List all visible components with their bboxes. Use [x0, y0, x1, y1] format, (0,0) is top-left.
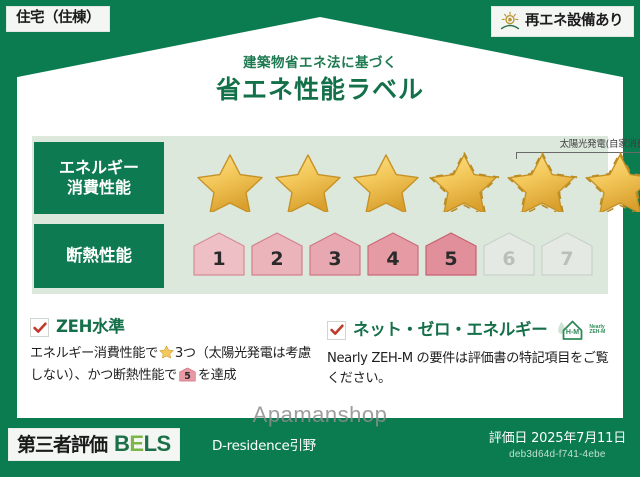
- energy-label-root: 住宅（住棟） 再エネ設備あり 建築物省エネ法に基づく 省エネ性能ラベル: [0, 0, 640, 477]
- zeh-standard-body: エネルギー消費性能で 3つ（太陽光発電は考慮しない）、かつ断熱性能で 5を達成: [30, 344, 313, 387]
- footer: 第三者評価 BELS D-residence引野 評価日 2025年7月11日 …: [0, 418, 640, 477]
- building-type-tag: 住宅（住棟）: [6, 6, 110, 32]
- evaluation-info: 評価日 2025年7月11日 deb3d64d-f741-4ebe: [489, 432, 626, 460]
- insulation-label-text: 断熱性能: [66, 246, 132, 267]
- star-filled: [272, 152, 344, 212]
- insulation-level-cell: 7: [540, 230, 594, 278]
- zeh-body-part4: を達成: [198, 368, 236, 383]
- bels-logo-e: E: [129, 431, 143, 456]
- zeh-standard-title: ZEH水準: [56, 319, 125, 336]
- energy-label-line2: 消費性能: [67, 178, 131, 198]
- insulation-level-number: 6: [502, 250, 515, 278]
- title-subtitle: 建築物省エネ法に基づく: [0, 56, 640, 71]
- insulation-level-cell: 4: [366, 230, 420, 278]
- insulation-level-number: 7: [560, 250, 573, 278]
- insulation-performance-body: 1 2 3: [164, 224, 608, 288]
- checkmark-icon: [327, 321, 346, 340]
- energy-performance-label: エネルギー 消費性能: [34, 142, 164, 214]
- renewable-equipment-tag: 再エネ設備あり: [491, 6, 634, 37]
- building-type-text: 住宅（住棟）: [16, 10, 100, 26]
- zeh-m-logo: H-M Nearly ZEH-M: [557, 318, 605, 342]
- insulation-level-cell: 3: [308, 230, 362, 278]
- star-solar: [584, 152, 640, 212]
- star-solar: [506, 152, 578, 212]
- bels-logo-b: B: [114, 431, 129, 456]
- insulation-level-number: 5: [444, 250, 457, 278]
- star-filled: [350, 152, 422, 212]
- star-solar: [428, 152, 500, 212]
- insulation-level-cell: 6: [482, 230, 536, 278]
- insulation-level-cell: 5: [424, 230, 478, 278]
- insulation-level-badge: 5: [179, 367, 196, 382]
- net-zero-energy-body: Nearly ZEH-M の要件は評価書の特記項目をご覧ください。: [327, 349, 610, 390]
- net-zero-energy-column: ネット・ゼロ・エネルギー H-M Nearly ZEH-M Nearly ZEH…: [327, 318, 610, 390]
- bels-badge: 第三者評価 BELS: [8, 428, 180, 461]
- star-rating: [194, 152, 640, 212]
- zeh-m-caption-line2: ZEH-M: [589, 330, 605, 335]
- zeh-standard-header: ZEH水準: [30, 318, 313, 337]
- building-name: D-residence引野: [212, 440, 316, 454]
- zeh-body-part2: 3つ（太陽光発電: [175, 346, 273, 361]
- insulation-level-cell: 1: [192, 230, 246, 278]
- title-block: 建築物省エネ法に基づく 省エネ性能ラベル: [0, 56, 640, 103]
- energy-label-line1: エネルギー: [59, 158, 139, 178]
- energy-performance-row: エネルギー 消費性能 太陽光発電(自家消費)分: [32, 142, 608, 214]
- bels-logo: BELS: [114, 433, 171, 455]
- svg-text:H-M: H-M: [566, 329, 579, 336]
- insulation-level-number: 1: [212, 250, 225, 278]
- evaluation-id: deb3d64d-f741-4ebe: [489, 450, 626, 460]
- info-columns: ZEH水準 エネルギー消費性能で 3つ（太陽光発電は考慮しない）、かつ断熱性能で…: [30, 318, 610, 390]
- insulation-scale: 1 2 3: [192, 230, 594, 278]
- insulation-performance-label: 断熱性能: [34, 224, 164, 288]
- insulation-level-number: 2: [270, 250, 283, 278]
- page-title: 省エネ性能ラベル: [0, 76, 640, 104]
- star-icon: [159, 345, 174, 366]
- insulation-level-number: 3: [328, 250, 341, 278]
- net-zero-energy-title: ネット・ゼロ・エネルギー: [353, 322, 547, 339]
- third-party-evaluation-text: 第三者評価: [17, 436, 107, 455]
- checkmark-icon: [30, 318, 49, 337]
- solar-annotation-text: 太陽光発電(自家消費)分: [516, 140, 640, 150]
- insulation-level-cell: 2: [250, 230, 304, 278]
- evaluation-date: 評価日 2025年7月11日: [489, 432, 626, 446]
- insulation-level-number: 4: [386, 250, 399, 278]
- energy-performance-body: 太陽光発電(自家消費)分: [164, 142, 608, 214]
- zeh-standard-column: ZEH水準 エネルギー消費性能で 3つ（太陽光発電は考慮しない）、かつ断熱性能で…: [30, 318, 313, 390]
- bels-logo-ls: LS: [144, 431, 171, 456]
- rating-panel: エネルギー 消費性能 太陽光発電(自家消費)分: [32, 136, 608, 294]
- renewable-tag-text: 再エネ設備あり: [525, 14, 623, 29]
- star-filled: [194, 152, 266, 212]
- insulation-badge-number: 5: [179, 367, 196, 382]
- sun-icon: [499, 11, 521, 31]
- net-zero-energy-header: ネット・ゼロ・エネルギー H-M Nearly ZEH-M: [327, 318, 610, 342]
- zeh-body-part1: エネルギー消費性能で: [30, 346, 158, 361]
- insulation-performance-row: 断熱性能 1 2: [32, 224, 608, 288]
